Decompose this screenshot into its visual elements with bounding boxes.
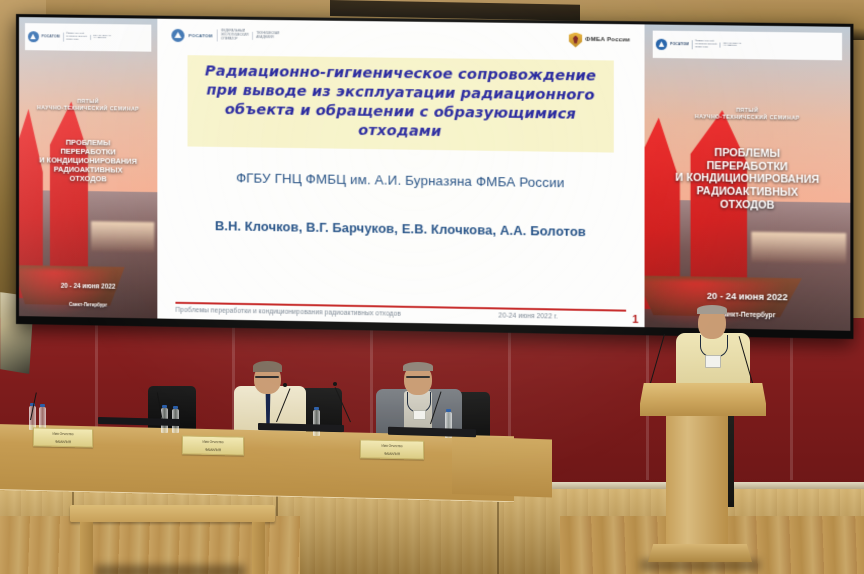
nameplate: Имя Отчество ФАМИЛИЯ <box>182 435 244 455</box>
rosatom-logo-icon <box>656 39 667 50</box>
banner-seminar-heading: ПЯТЫЙ НАУЧНО-ТЕХНИЧЕСКИЙ СЕМИНАР <box>645 106 851 123</box>
slide-logo-bar: РОСАТОМ ФЕДЕРАЛЬНЫЙ ЭКОЛОГИЧЕСКИЙ ОПЕРАТ… <box>157 22 644 54</box>
person-hair <box>697 305 727 314</box>
podium-column <box>666 416 728 544</box>
tech-academy-sublabel: ТЕХНИЧЕСКАЯ АКАДЕМИЯ <box>90 35 111 41</box>
slide-footer-right-text: 20-24 июня 2022 г. <box>499 312 558 320</box>
eyeglasses-icon <box>406 376 430 378</box>
rosatom-wordmark: РОСАТОМ <box>670 42 689 46</box>
rosatom-wordmark: РОСАТОМ <box>189 33 213 38</box>
microphone-head <box>283 383 287 387</box>
feo-sublabel: ФЕДЕРАЛЬНЫЙ ЭКОЛОГИЧЕСКИЙ ОПЕРАТОР <box>63 33 87 42</box>
conference-hall-photo: РОСАТОМ ФЕДЕРАЛЬНЫЙ ЭКОЛОГИЧЕСКИЙ ОПЕРАТ… <box>0 0 864 574</box>
slide-title-box: Радиационно-гигиеническое сопровождение … <box>188 55 614 153</box>
slide-organization: ФГБУ ГНЦ ФМБЦ им. А.И. Бурназяна ФМБА Ро… <box>157 169 644 191</box>
banner-seminar-heading: ПЯТЫЙ НАУЧНО-ТЕХНИЧЕСКИЙ СЕМИНАР <box>19 98 157 114</box>
nameplate: Имя Отчество ФАМИЛИЯ <box>33 427 93 447</box>
presidium-member-1 <box>232 360 308 430</box>
microphone-head <box>333 382 337 386</box>
badge <box>413 410 426 420</box>
banner-title-right: ПРОБЛЕМЫ ПЕРЕРАБОТКИ И КОНДИЦИОНИРОВАНИЯ… <box>645 146 851 215</box>
bottle-cap <box>446 409 451 412</box>
conference-banner-left: РОСАТОМ ФЕДЕРАЛЬНЫЙ ЭКОЛОГИЧЕСКИЙ ОПЕРАТ… <box>19 17 157 318</box>
bottle-cap <box>314 407 319 410</box>
table-leg <box>252 522 265 574</box>
slide-fmba-logo-group: ФМБА России <box>569 32 630 48</box>
bottle-cap <box>40 404 45 407</box>
podium-base <box>648 544 752 562</box>
person-hair <box>253 361 282 372</box>
nameplate: Имя Отчество ФАМИЛИЯ <box>360 439 424 459</box>
table-shadow <box>95 565 245 574</box>
slide-authors: В.Н. Клочков, В.Г. Барчуков, Е.В. Клочко… <box>157 217 644 240</box>
nameplate-line-2: ФАМИЛИЯ <box>361 448 423 457</box>
feo-sublabel: ФЕДЕРАЛЬНЫЙ ЭКОЛОГИЧЕСКИЙ ОПЕРАТОР <box>217 30 249 42</box>
person-hair <box>403 362 433 371</box>
presentation-slide: РОСАТОМ ФЕДЕРАЛЬНЫЙ ЭКОЛОГИЧЕСКИЙ ОПЕРАТ… <box>157 19 644 328</box>
banner-cityscape <box>91 222 155 253</box>
rosatom-wordmark: РОСАТОМ <box>42 35 60 39</box>
rosatom-logo-icon <box>28 31 39 42</box>
wall-panel-seam <box>790 320 793 480</box>
tech-academy-sublabel: ТЕХНИЧЕСКАЯ АКАДЕМИЯ <box>720 42 741 48</box>
fmba-wordmark: ФМБА России <box>585 37 630 44</box>
slide-footer-left-text: Проблемы переработки и кондиционирования… <box>175 307 400 318</box>
projection-screen-frame: РОСАТОМ ФЕДЕРАЛЬНЫЙ ЭКОЛОГИЧЕСКИЙ ОПЕРАТ… <box>16 14 853 339</box>
podium <box>640 383 766 574</box>
projection-screen: РОСАТОМ ФЕДЕРАЛЬНЫЙ ЭКОЛОГИЧЕСКИЙ ОПЕРАТ… <box>19 17 850 331</box>
eyeglasses-icon <box>255 376 279 378</box>
podium-top <box>640 383 766 416</box>
fmba-crest-icon <box>569 32 582 47</box>
water-bottle <box>313 410 320 436</box>
feo-sublabel: ФЕДЕРАЛЬНЫЙ ЭКОЛОГИЧЕСКИЙ ОПЕРАТОР <box>692 40 717 49</box>
slide-number: 1 <box>632 314 638 326</box>
banner-logo-row: РОСАТОМ ФЕДЕРАЛЬНЫЙ ЭКОЛОГИЧЕСКИЙ ОПЕРАТ… <box>653 31 842 61</box>
banner-cityscape <box>751 232 846 264</box>
badge <box>705 355 721 368</box>
banner-title-left: ПРОБЛЕМЫ ПЕРЕРАБОТКИ И КОНДИЦИОНИРОВАНИЯ… <box>19 137 157 184</box>
bottle-cap <box>173 406 178 409</box>
slide-rosatom-logo-group: РОСАТОМ ФЕДЕРАЛЬНЫЙ ЭКОЛОГИЧЕСКИЙ ОПЕРАТ… <box>171 28 279 42</box>
rosatom-logo-icon <box>171 28 184 41</box>
table-top <box>70 505 275 522</box>
tech-academy-sublabel: ТЕХНИЧЕСКАЯ АКАДЕМИЯ <box>252 32 279 40</box>
nameplate-line-2: ФАМИЛИЯ <box>183 444 243 453</box>
banner-logo-row: РОСАТОМ ФЕДЕРАЛЬНЫЙ ЭКОЛОГИЧЕСКИЙ ОПЕРАТ… <box>25 23 152 51</box>
water-reflection <box>19 268 116 318</box>
conference-banner-right: РОСАТОМ ФЕДЕРАЛЬНЫЙ ЭКОЛОГИЧЕСКИЙ ОПЕРАТ… <box>645 24 851 330</box>
nameplate-line-2: ФАМИЛИЯ <box>34 436 92 445</box>
presidium-desk-right-segment <box>452 436 552 497</box>
table-leg <box>80 522 93 574</box>
small-wooden-table <box>70 505 275 574</box>
bottle-cap <box>162 405 167 408</box>
